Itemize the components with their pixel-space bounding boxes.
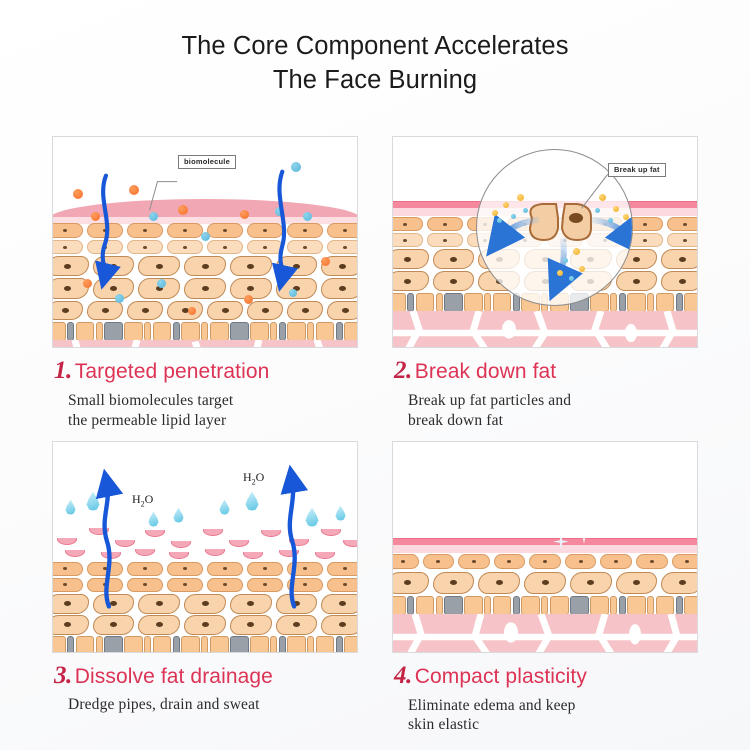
step-1-body: Small biomolecules target the permeable … — [54, 385, 358, 431]
step-3-number: 3. — [54, 662, 72, 690]
step-card-4: 4. Compact plasticity Eliminate edema an… — [392, 441, 698, 736]
step-4-figure — [392, 441, 698, 653]
step-2-body-line-1: Break up fat particles and — [408, 391, 698, 411]
step-1-figure: biomolecule — [52, 136, 358, 348]
step-1-body-line-1: Small biomolecules target — [68, 391, 358, 411]
step-card-1: biomolecule 1. Targeted penetration Smal… — [52, 136, 358, 431]
water-droplet — [86, 492, 100, 511]
water-droplet — [219, 500, 230, 515]
water-droplet — [335, 506, 346, 521]
step-2-figure: Break up fat — [392, 136, 698, 348]
step-2-body-line-2: break down fat — [408, 411, 698, 431]
step-1-headline: 1. Targeted penetration — [54, 357, 358, 385]
page-title-line-2: The Face Burning — [0, 64, 750, 98]
step-3-body: Dredge pipes, drain and sweat — [54, 690, 358, 715]
water-droplet — [65, 500, 76, 515]
step-card-2: Break up fat 2. Break down fat Break up … — [392, 136, 698, 431]
step-1-heading: Targeted penetration — [75, 360, 270, 384]
water-droplet — [305, 508, 319, 527]
step-3-caption: 3. Dissolve fat drainage Dredge pipes, d… — [52, 653, 358, 715]
step-1-caption: 1. Targeted penetration Small biomolecul… — [52, 348, 358, 431]
step-2-heading: Break down fat — [415, 360, 556, 384]
h2o-label: H2O — [243, 470, 264, 486]
step-4-caption: 4. Compact plasticity Eliminate edema an… — [392, 653, 698, 736]
step-2-body: Break up fat particles and break down fa… — [394, 385, 698, 431]
step-4-body-line-1: Eliminate edema and keep — [408, 696, 698, 716]
step-4-body: Eliminate edema and keep skin elastic — [394, 690, 698, 736]
page-title: The Core Component Accelerates The Face … — [0, 0, 750, 97]
step-4-body-line-2: skin elastic — [408, 715, 698, 735]
h2o-label: H2O — [132, 492, 153, 508]
water-droplet — [148, 512, 159, 527]
step-4-number: 4. — [394, 662, 412, 690]
steps-grid: biomolecule 1. Targeted penetration Smal… — [52, 136, 698, 735]
break-up-fat-callout-label: Break up fat — [608, 163, 666, 177]
step-3-figure: H2O H2O — [52, 441, 358, 653]
step-4-headline: 4. Compact plasticity — [394, 662, 698, 690]
step-2-caption: 2. Break down fat Break up fat particles… — [392, 348, 698, 431]
step-3-heading: Dissolve fat drainage — [75, 665, 273, 689]
step-card-3: H2O H2O 3. Dissolve fat drainage — [52, 441, 358, 736]
step-4-heading: Compact plasticity — [415, 665, 587, 689]
water-droplet — [173, 508, 184, 523]
step-2-headline: 2. Break down fat — [394, 357, 698, 385]
step-3-body-line-1: Dredge pipes, drain and sweat — [68, 695, 358, 715]
step-2-number: 2. — [394, 357, 412, 385]
biomolecule-callout-label: biomolecule — [178, 155, 236, 169]
page-title-line-1: The Core Component Accelerates — [0, 30, 750, 64]
step-1-number: 1. — [54, 357, 72, 385]
water-droplet — [245, 492, 259, 511]
step-3-headline: 3. Dissolve fat drainage — [54, 662, 358, 690]
step-1-body-line-2: the permeable lipid layer — [68, 411, 358, 431]
